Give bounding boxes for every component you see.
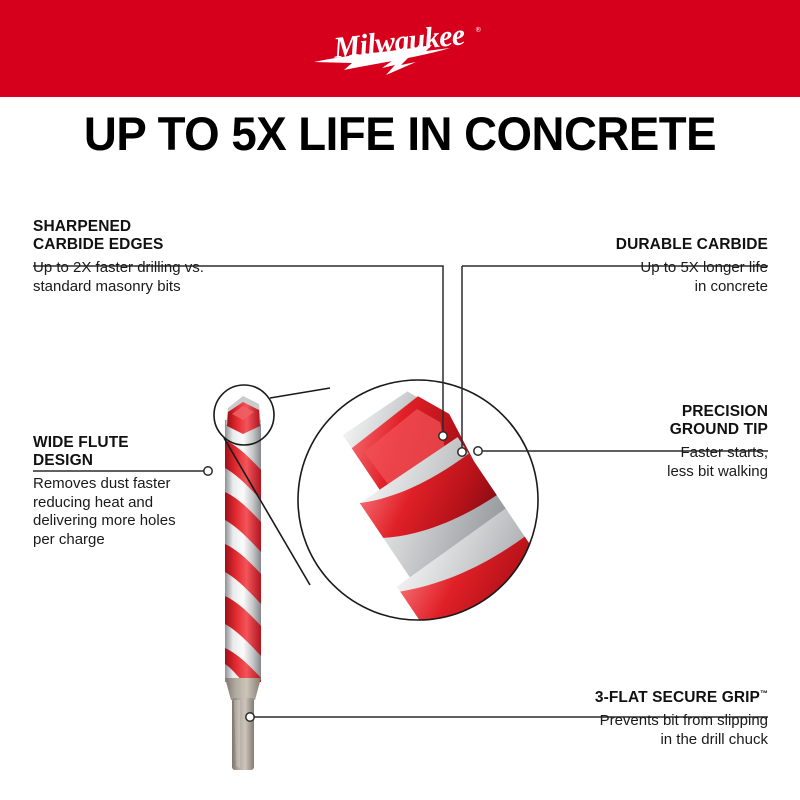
masonry-drill-bit <box>0 0 800 800</box>
trademark-symbol: ™ <box>760 689 768 698</box>
callout-three-flat-secure-grip: 3-FLAT SECURE GRIP™ Prevents bit from sl… <box>428 685 768 749</box>
callout-body: Faster starts, less bit walking <box>468 439 768 481</box>
callout-wide-flute-design: WIDE FLUTE DESIGN Removes dust faster re… <box>33 434 263 549</box>
callout-durable-carbide: DURABLE CARBIDE Up to 5X longer life in … <box>468 236 768 296</box>
callout-title-text: 3-FLAT SECURE GRIP <box>595 689 760 706</box>
callout-body: Removes dust faster reducing heat and de… <box>33 470 263 549</box>
callout-title: SHARPENED CARBIDE EDGES <box>33 218 333 254</box>
callout-title: 3-FLAT SECURE GRIP™ <box>428 685 768 707</box>
callout-title: DURABLE CARBIDE <box>468 236 768 254</box>
callout-body: Up to 2X faster drilling vs. standard ma… <box>33 254 333 296</box>
callout-precision-ground-tip: PRECISION GROUND TIP Faster starts, less… <box>468 403 768 481</box>
callout-body: Up to 5X longer life in concrete <box>468 254 768 296</box>
callout-title: PRECISION GROUND TIP <box>468 403 768 439</box>
infographic-page: Milwaukee ® UP TO 5X LIFE IN CONCRETE <box>0 0 800 800</box>
callout-title: WIDE FLUTE DESIGN <box>33 434 263 470</box>
callout-body: Prevents bit from slipping in the drill … <box>428 707 768 749</box>
callout-sharpened-carbide-edges: SHARPENED CARBIDE EDGES Up to 2X faster … <box>33 218 333 296</box>
